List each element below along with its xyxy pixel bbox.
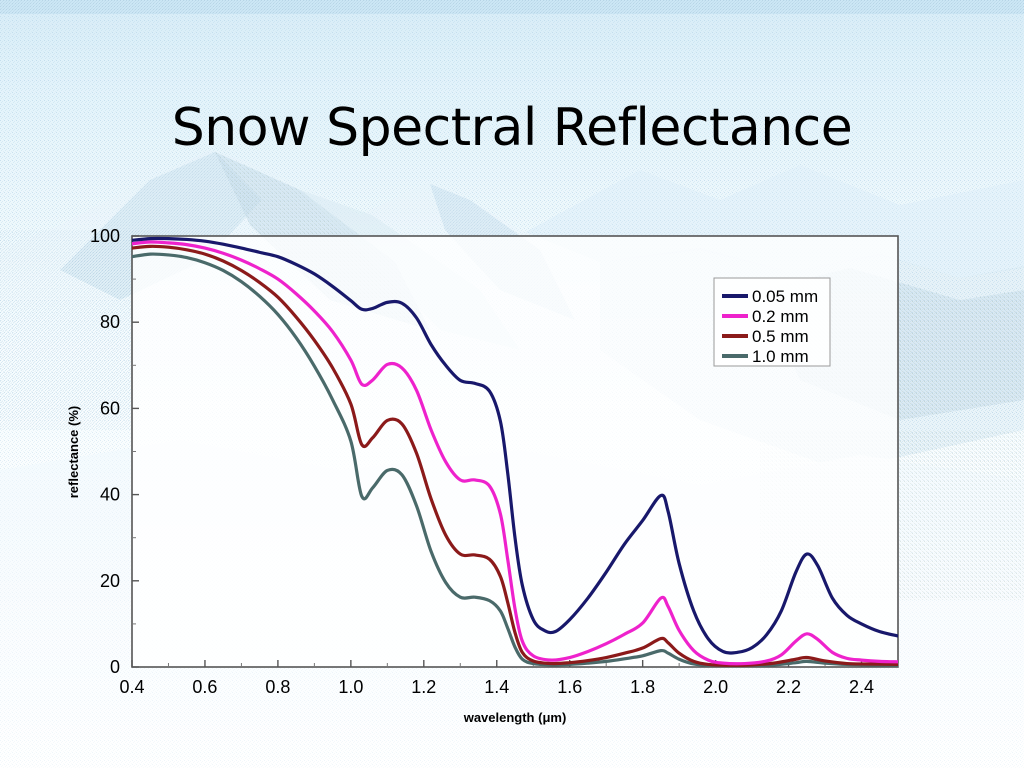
y-axis-title: reflectance (%) xyxy=(66,406,81,498)
legend-label-0: 0.05 mm xyxy=(752,287,818,306)
y-tick-label: 20 xyxy=(100,571,120,591)
y-tick-label: 60 xyxy=(100,398,120,418)
x-tick-label: 2.4 xyxy=(849,677,874,697)
y-tick-label: 100 xyxy=(90,226,120,246)
y-tick-label: 0 xyxy=(110,657,120,677)
x-tick-label: 2.0 xyxy=(703,677,728,697)
legend-label-1: 0.2 mm xyxy=(752,307,809,326)
slide-canvas: Snow Spectral Reflectance 0.40.60.81.01.… xyxy=(0,0,1024,768)
x-tick-label: 0.6 xyxy=(192,677,217,697)
spectral-reflectance-chart: 0.40.60.81.01.21.41.61.82.02.22.4 020406… xyxy=(0,0,1024,768)
legend-label-2: 0.5 mm xyxy=(752,327,809,346)
x-tick-label: 1.6 xyxy=(557,677,582,697)
y-axis-tick-labels: 020406080100 xyxy=(90,226,120,677)
chart-legend: 0.05 mm0.2 mm0.5 mm1.0 mm xyxy=(714,278,830,366)
x-axis-title: wavelength (μm) xyxy=(463,710,567,725)
x-tick-label: 0.8 xyxy=(265,677,290,697)
y-tick-label: 40 xyxy=(100,485,120,505)
x-tick-label: 1.4 xyxy=(484,677,509,697)
legend-label-3: 1.0 mm xyxy=(752,347,809,366)
x-axis-tick-labels: 0.40.60.81.01.21.41.61.82.02.22.4 xyxy=(119,677,874,697)
x-tick-label: 1.8 xyxy=(630,677,655,697)
x-tick-label: 1.0 xyxy=(338,677,363,697)
x-tick-label: 0.4 xyxy=(119,677,144,697)
x-tick-label: 1.2 xyxy=(411,677,436,697)
x-tick-label: 2.2 xyxy=(776,677,801,697)
y-tick-label: 80 xyxy=(100,312,120,332)
